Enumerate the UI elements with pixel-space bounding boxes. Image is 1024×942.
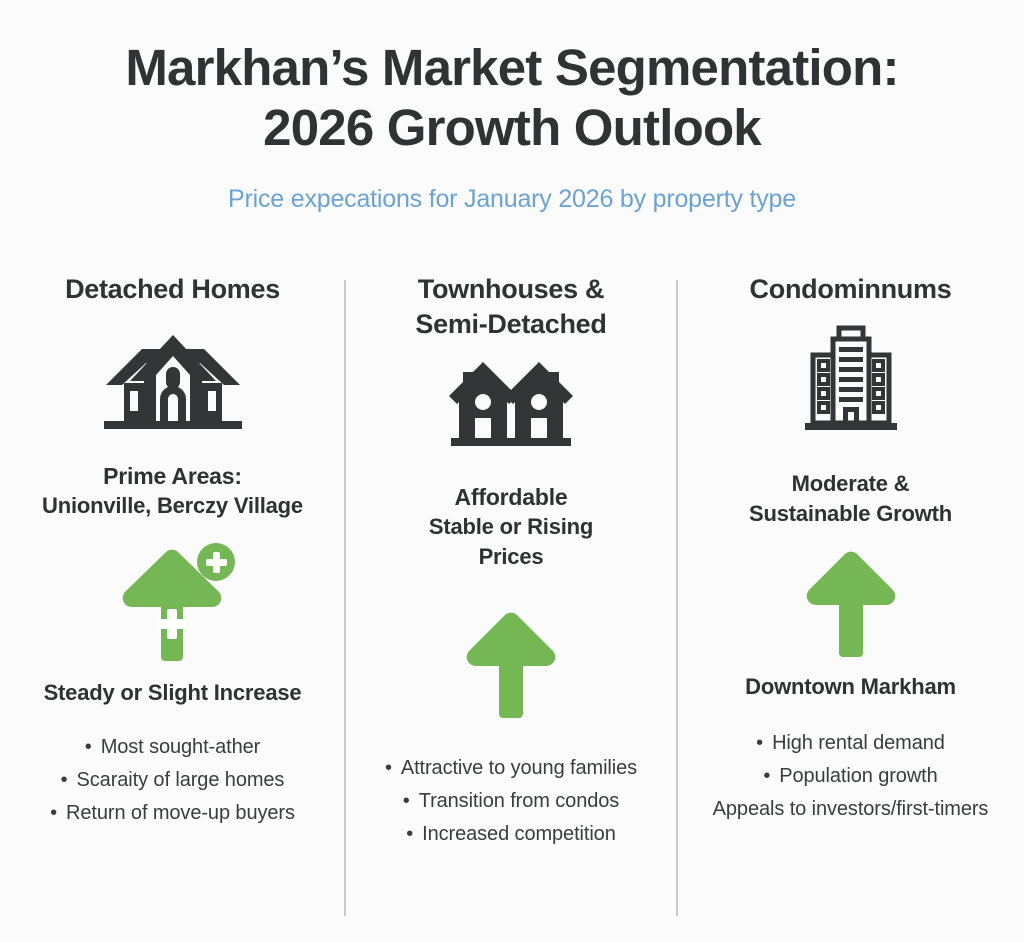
page-title: Markhan’s Market Segmentation: 2026 Grow… — [62, 38, 962, 158]
column-subhead-detached: Prime Areas: Unionville, Berczy Village — [42, 461, 303, 521]
column-title-townhouses: Townhouses & Semi-Detached — [415, 272, 606, 342]
column-band-condominiums: Downtown Markham — [745, 673, 956, 701]
segment-column-detached-homes: Detached Homes — [0, 272, 345, 922]
column-band-detached: Steady or Slight Increase — [44, 679, 302, 707]
list-item: Transition from condos — [385, 785, 637, 818]
column-title-townhouses-line-1: Townhouses & — [415, 272, 606, 307]
segment-column-townhouses: Townhouses & Semi-Detached — [345, 272, 677, 922]
column-bullets-townhouses: Attractive to young families Transition … — [385, 752, 637, 851]
list-item: High rental demand — [713, 727, 989, 760]
townhouses-subhead-line-2: Stable or Rising — [429, 512, 593, 542]
list-item: Appeals to investors/first-timers — [713, 793, 989, 826]
page-title-line-1: Markhan’s Market Segmentation: — [62, 38, 962, 98]
list-item: Increased competition — [385, 818, 637, 851]
list-item: Attractive to young families — [385, 752, 637, 785]
prime-areas-label: Prime Areas: — [42, 461, 303, 491]
infographic-poster: Markhan’s Market Segmentation: 2026 Grow… — [0, 0, 1024, 942]
column-subhead-townhouses: Affordable Stable or Rising Prices — [429, 482, 593, 572]
column-title-condominiums: Condominnums — [750, 272, 952, 307]
green-up-arrow-plus-icon — [110, 543, 236, 661]
column-bullets-detached: Most sought-ather Scaraity of large home… — [50, 731, 295, 830]
condo-tower-icon — [803, 323, 899, 433]
green-up-arrow-icon — [805, 549, 897, 657]
column-title-townhouses-line-2: Semi-Detached — [415, 307, 606, 342]
list-item: Scaraity of large homes — [50, 764, 295, 797]
prime-areas-value: Unionville, Berczy Village — [42, 491, 303, 521]
page-subtitle: Price expecations for January 2026 by pr… — [0, 184, 1024, 214]
condominiums-subhead-line-1: Moderate & — [749, 469, 952, 499]
segment-columns: Detached Homes — [0, 272, 1024, 922]
list-item: Return of move-up buyers — [50, 797, 295, 830]
column-subhead-condominiums: Moderate & Sustainable Growth — [749, 469, 952, 529]
column-bullets-condominiums: High rental demand Population growth App… — [713, 727, 989, 826]
page-title-line-2: 2026 Growth Outlook — [62, 98, 962, 158]
column-title-detached: Detached Homes — [65, 272, 280, 307]
condominiums-subhead-line-2: Sustainable Growth — [749, 499, 952, 529]
list-item: Population growth — [713, 760, 989, 793]
header: Markhan’s Market Segmentation: 2026 Grow… — [0, 38, 1024, 214]
list-item: Most sought-ather — [50, 731, 295, 764]
semi-detached-houses-icon — [449, 360, 573, 450]
detached-house-icon — [98, 329, 248, 433]
townhouses-subhead-line-3: Prices — [429, 542, 593, 572]
segment-column-condominiums: Condominnums — [677, 272, 1024, 922]
townhouses-subhead-line-1: Affordable — [429, 482, 593, 512]
green-up-arrow-icon — [465, 610, 557, 718]
